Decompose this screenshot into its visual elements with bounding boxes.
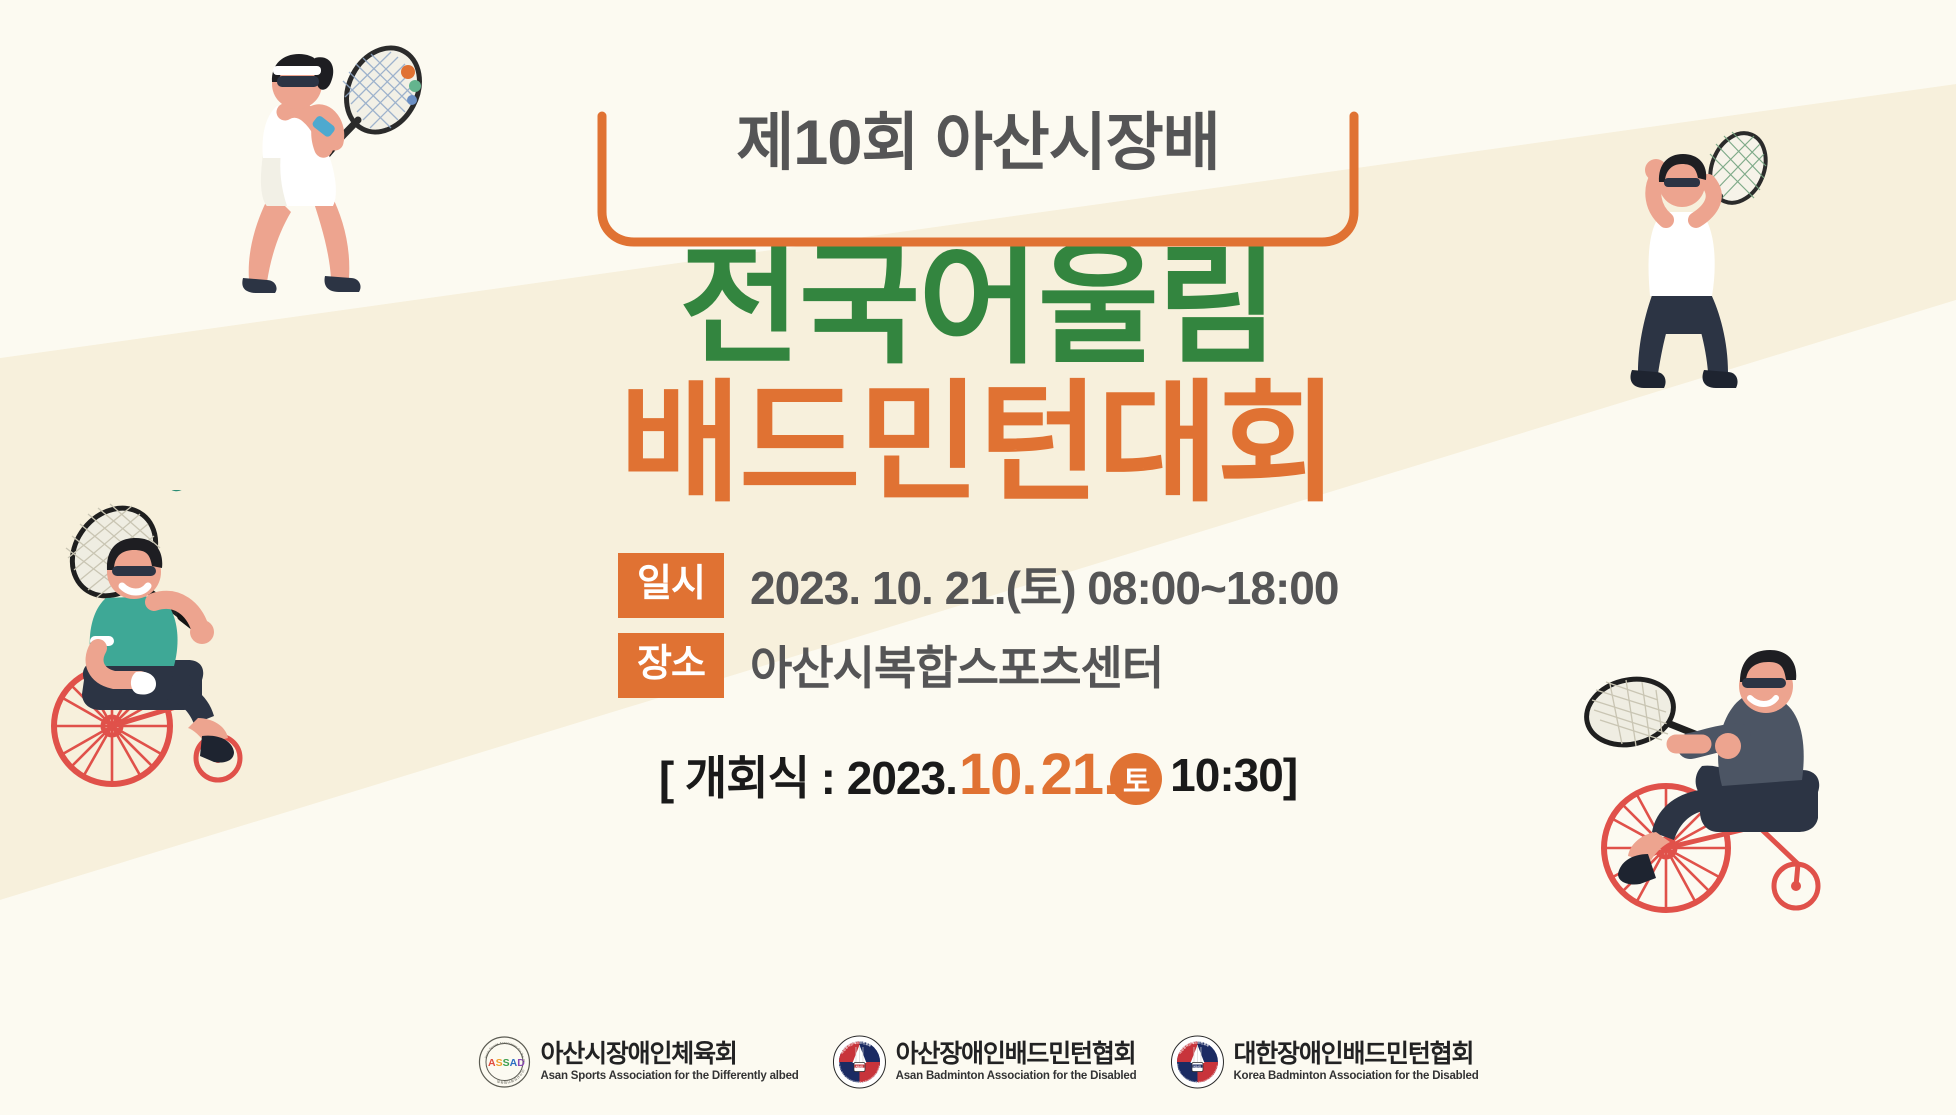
info-value-date: 2023. 10. 21.(토) 08:00~18:00 (750, 552, 1338, 618)
svg-text:KBAD: KBAD (1193, 1064, 1201, 1068)
logo-name-ko: 대한장애인배드민턴협회 (1233, 1042, 1478, 1067)
logo-korea-badminton-association: KBAD 대한장애인배드민턴협회 KOREA BADMINTON ASSOCIA… (1170, 1035, 1478, 1089)
opening-ceremony-line: [ 개회식 : 2023. 10. 21. 토 10:30 ] (659, 742, 1297, 808)
logo-name-en: Asan Sports Association for the Differen… (540, 1071, 798, 1083)
logo-text-block: 아산장애인배드민턴협회 Asan Badminton Association f… (896, 1042, 1137, 1083)
wheelchair-badminton-player-right-illustration (1570, 640, 1890, 930)
kicker-block: 제10회 아산시장배 (588, 108, 1368, 248)
kicker-text: 제10회 아산시장배 (736, 112, 1219, 175)
poster-canvas: 제10회 아산시장배 전국어울림 배드민턴대회 일시 2023. 10. 21.… (0, 0, 1956, 1115)
tennis-player-man-illustration (1608, 120, 1808, 420)
event-info-block: 일시 2023. 10. 21.(토) 08:00~18:00 장소 아산시복합… (618, 552, 1338, 698)
info-tag-place: 장소 (618, 633, 724, 698)
tennis-player-woman-illustration (215, 42, 435, 312)
logo-asan-badminton-association: ABAD 아산장애인배드민턴협회 ASAN BADMINTON ASSOCIAT… (833, 1035, 1137, 1089)
logo-name-ko: 아산장애인배드민턴협회 (896, 1042, 1137, 1067)
footer-logo-strip: ASSAD Asan Sports Association for the Di… (477, 1035, 1478, 1089)
korea-badminton-shield-icon: KBAD 대한장애인배드민턴협회 KOREA BADMINTON ASSOCIA… (1170, 1035, 1224, 1089)
logo-text-block: 아산시장애인체육회 Asan Sports Association for th… (540, 1042, 798, 1083)
ceremony-day: 21. (1041, 746, 1119, 804)
ceremony-suffix: ] (1283, 748, 1297, 802)
logo-name-en: Asan Badminton Association for the Disab… (896, 1071, 1137, 1083)
logo-text-block: 대한장애인배드민턴협회 Korea Badminton Association … (1233, 1042, 1478, 1083)
title-line-2: 배드민턴대회 (620, 378, 1337, 510)
info-tag-date: 일시 (618, 553, 724, 618)
logo-name-en: Korea Badminton Association for the Disa… (1233, 1071, 1478, 1083)
poster-content: 제10회 아산시장배 전국어울림 배드민턴대회 일시 2023. 10. 21.… (428, 0, 1528, 1115)
logo-name-ko: 아산시장애인체육회 (540, 1042, 798, 1067)
title-line-1: 전국어울림 (679, 240, 1276, 372)
ceremony-prefix: [ 개회식 : 2023. (659, 742, 957, 808)
info-value-place: 아산시복합스포츠센터 (750, 632, 1163, 698)
ceremony-month: 10. (959, 746, 1037, 804)
svg-text:ASSAD: ASSAD (488, 1057, 525, 1069)
info-row-place: 장소 아산시복합스포츠센터 (618, 632, 1163, 698)
ceremony-day-badge: 토 (1110, 753, 1162, 805)
asan-badminton-shield-icon: ABAD 아산장애인배드민턴협회 ASAN BADMINTON ASSOCIAT… (833, 1035, 887, 1089)
svg-text:아산시장애인체육회: 아산시장애인체육회 (496, 1069, 526, 1085)
logo-asan-sports-association: ASSAD Asan Sports Association for the Di… (477, 1035, 798, 1089)
wheelchair-badminton-player-left-illustration (36, 490, 336, 790)
ceremony-time: 10:30 (1170, 748, 1283, 802)
assad-circle-icon: ASSAD Asan Sports Association for the Di… (477, 1035, 531, 1089)
svg-text:ABAD: ABAD (856, 1064, 864, 1068)
info-row-date: 일시 2023. 10. 21.(토) 08:00~18:00 (618, 552, 1338, 618)
